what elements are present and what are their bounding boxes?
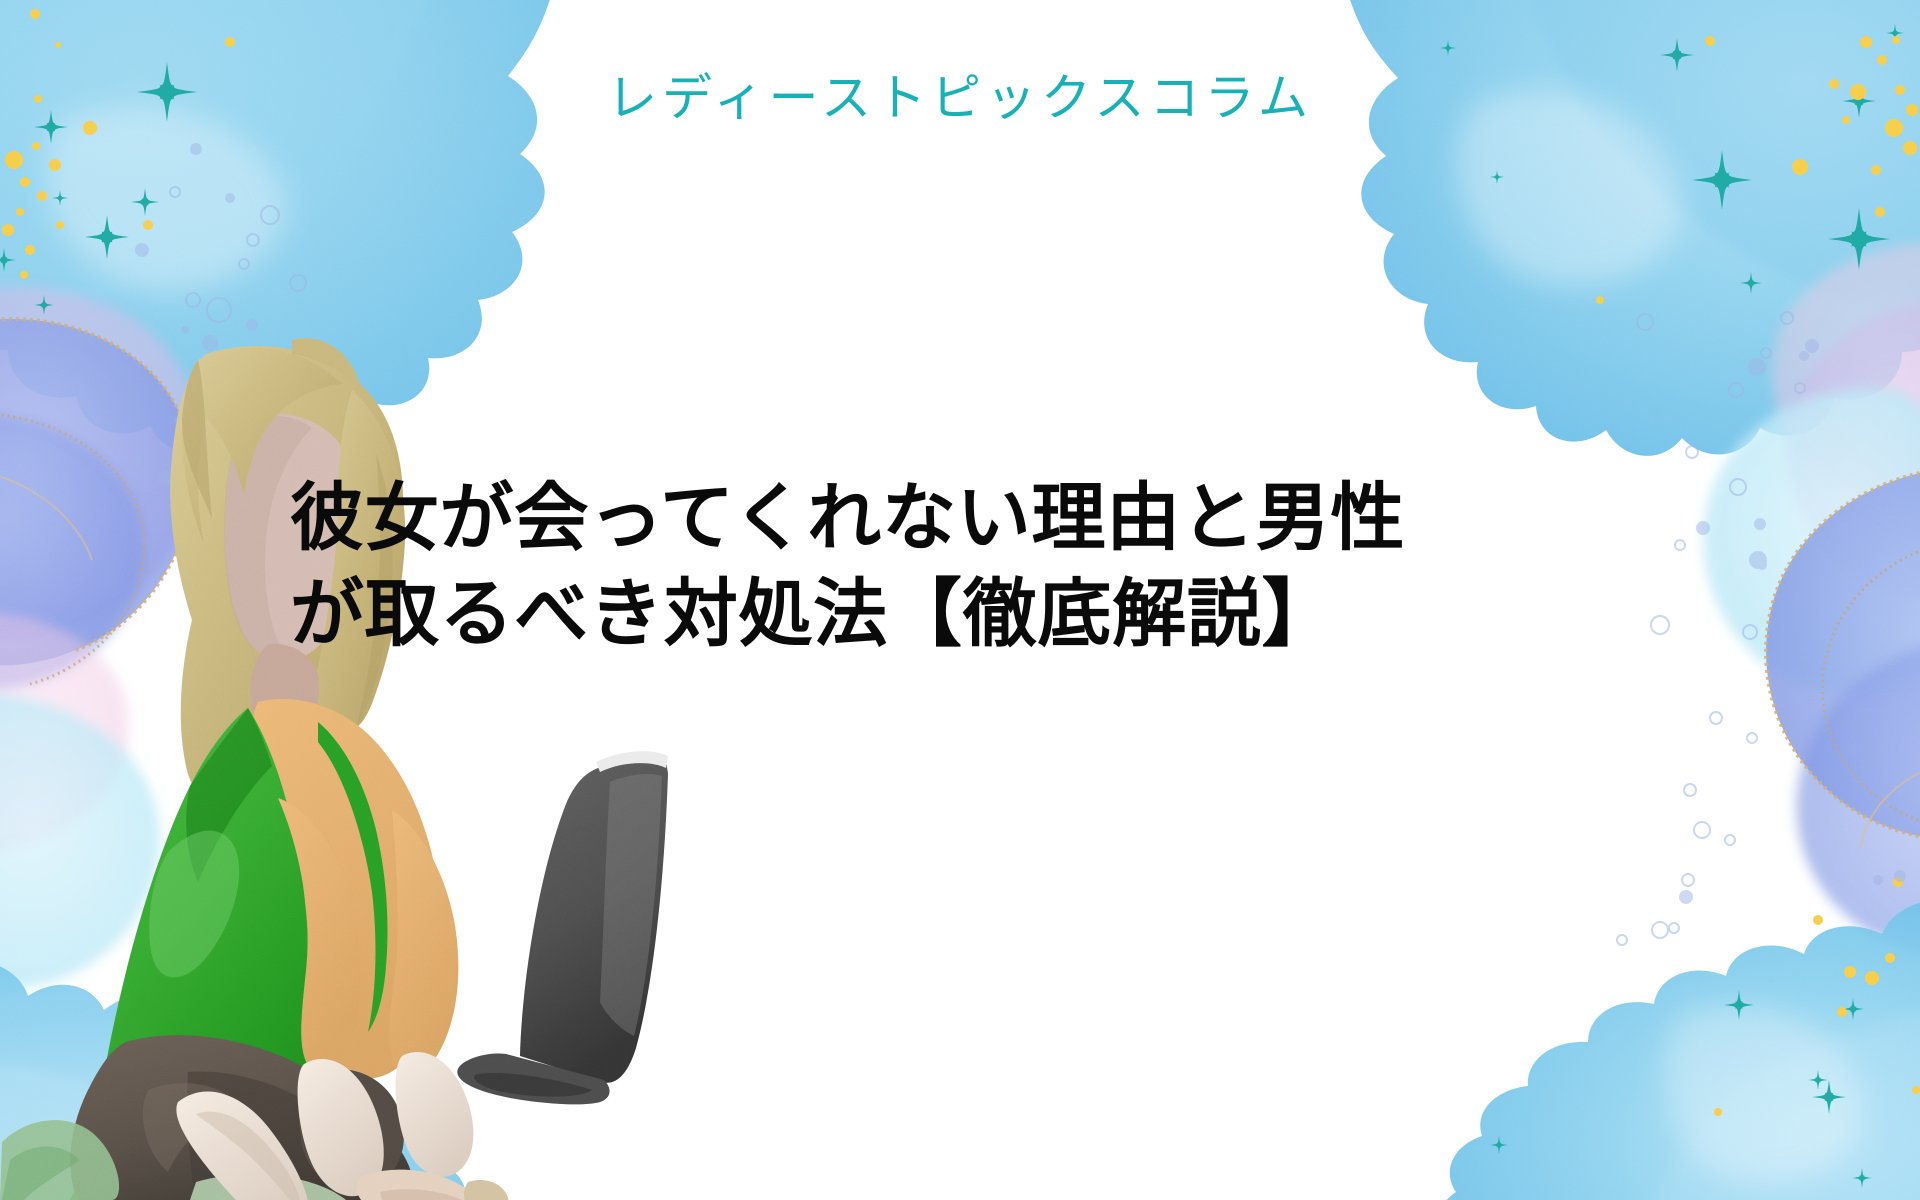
headline-line-2: が取るべき対処法【徹底解説】 bbox=[290, 566, 1330, 662]
woman-with-laptop-illustration bbox=[0, 330, 720, 1200]
laptop bbox=[457, 751, 668, 1104]
thumbnail-canvas: レディーストピックスコラム 彼女が会ってくれない理由と男性 が取るべき対処法【徹… bbox=[0, 0, 1920, 1200]
kicker-text: レディーストピックスコラム bbox=[0, 68, 1920, 128]
arm-far bbox=[389, 810, 458, 1073]
bottom-right-watercolor-blob bbox=[1428, 899, 1920, 1200]
page-title: 彼女が会ってくれない理由と男性 が取るべき対処法【徹底解説】 bbox=[290, 470, 1330, 662]
hand-knuckle bbox=[464, 1180, 509, 1200]
headline-line-1: 彼女が会ってくれない理由と男性 bbox=[290, 470, 1330, 566]
right-periwinkle-blob bbox=[1703, 243, 1920, 958]
